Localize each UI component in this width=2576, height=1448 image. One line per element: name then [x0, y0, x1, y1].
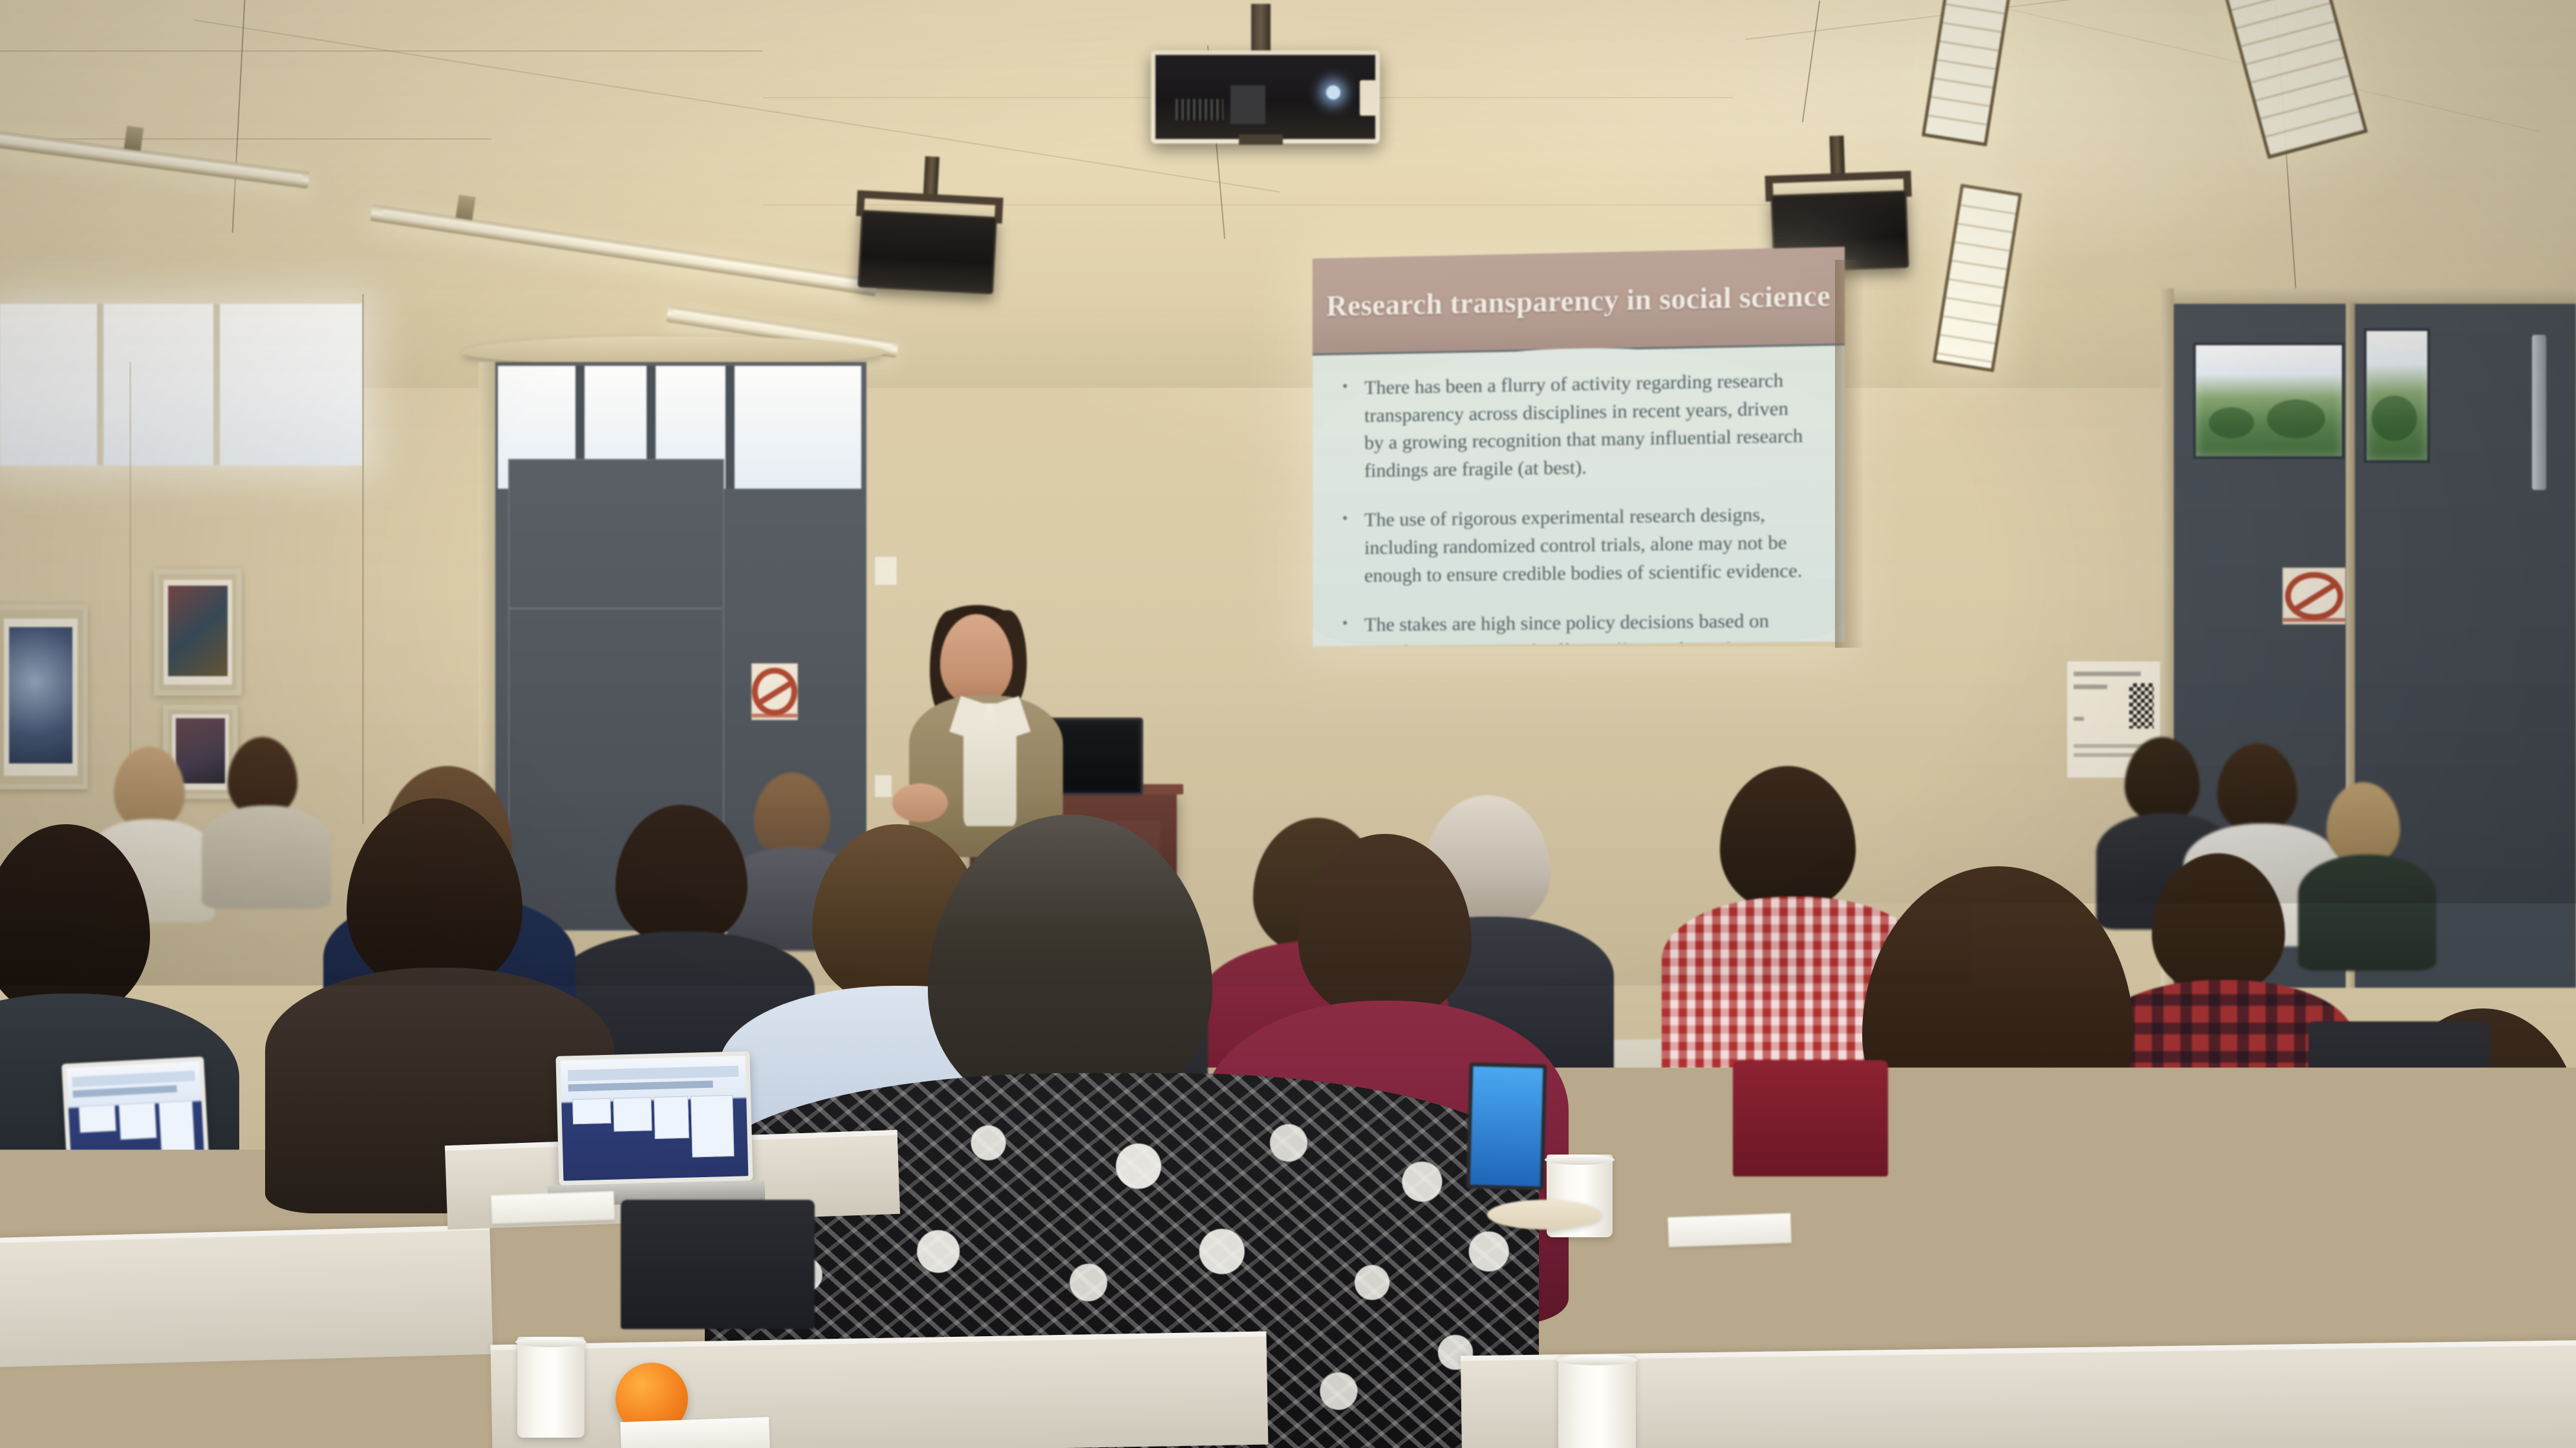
- laptop-center-open[interactable]: [555, 1051, 753, 1186]
- bullet-marker: •: [1342, 612, 1364, 646]
- door-rail: [508, 608, 722, 610]
- notepad[interactable]: [491, 1191, 614, 1224]
- laptop-left-open[interactable]: [61, 1056, 210, 1186]
- slide-title: Research transparency in social science: [1326, 279, 1830, 323]
- slide-title-bar: Research transparency in social science: [1313, 247, 1845, 356]
- paper-plate: [1487, 1200, 1601, 1230]
- conference-room-photo: Research transparency in social science …: [0, 0, 2576, 1448]
- bullet-marker: •: [1342, 507, 1364, 590]
- no-food-drink-icon: [2282, 568, 2346, 624]
- wall-outlet: [874, 774, 892, 798]
- projector-body: [1151, 50, 1380, 144]
- ceiling-projector: [1151, 50, 1371, 134]
- paper-cup[interactable]: [1558, 1355, 1636, 1448]
- no-food-drink-icon: [751, 663, 798, 720]
- framed-artwork: [154, 569, 242, 696]
- handout-paper[interactable]: [1668, 1213, 1791, 1248]
- projector-lens: [1360, 80, 1377, 116]
- projection-screen: Research transparency in social science …: [1313, 259, 1836, 646]
- laptop-screen: [1470, 1067, 1543, 1187]
- framed-artwork: [0, 604, 88, 789]
- laptop-screen: [67, 1061, 206, 1182]
- handout-paper[interactable]: [620, 1417, 770, 1448]
- door-header-beam: [462, 336, 886, 365]
- slide-bullet: • The use of rigorous experimental resea…: [1342, 501, 1810, 590]
- slide-body: • There has been a flurry of activity re…: [1313, 343, 1845, 646]
- bullet-text: The stakes are high since policy decisio…: [1364, 607, 1810, 646]
- projector-foot: [1239, 134, 1283, 145]
- door-pull-handle[interactable]: [2532, 335, 2546, 490]
- light-switch[interactable]: [874, 556, 897, 586]
- front-table-center: [491, 1332, 1269, 1448]
- clerestory-window: [0, 304, 362, 465]
- bullet-marker: •: [1342, 375, 1364, 485]
- bullet-text: There has been a flurry of activity rega…: [1364, 367, 1810, 485]
- projector-mount-pole: [1251, 4, 1271, 54]
- attendee-curly-hair-center-left: [291, 798, 582, 1199]
- screen-edge-shadow: [1835, 260, 1863, 648]
- projector-vent: [1175, 99, 1224, 121]
- projector-status-led: [1326, 85, 1340, 100]
- wall-panel-seam: [362, 294, 364, 824]
- slide-bullet: • The stakes are high since policy decis…: [1342, 607, 1810, 646]
- ceiling-speaker-left: [857, 191, 998, 295]
- bullet-text: The use of rigorous experimental researc…: [1364, 501, 1810, 590]
- chair-back[interactable]: [1733, 1060, 1888, 1176]
- front-table-left: [0, 1225, 493, 1367]
- paper-cup[interactable]: [517, 1337, 585, 1438]
- slide-bullet: • There has been a flurry of activity re…: [1342, 367, 1810, 485]
- exterior-window: [2364, 328, 2430, 463]
- exterior-window: [2193, 343, 2345, 459]
- chair-back[interactable]: [621, 1200, 815, 1329]
- presentation-slide: Research transparency in social science …: [1313, 247, 1845, 646]
- laptop-right-open[interactable]: [1466, 1062, 1547, 1190]
- laptop-screen: [561, 1056, 749, 1180]
- chair-back[interactable]: [2308, 1021, 2489, 1151]
- projector-panel: [1230, 85, 1265, 124]
